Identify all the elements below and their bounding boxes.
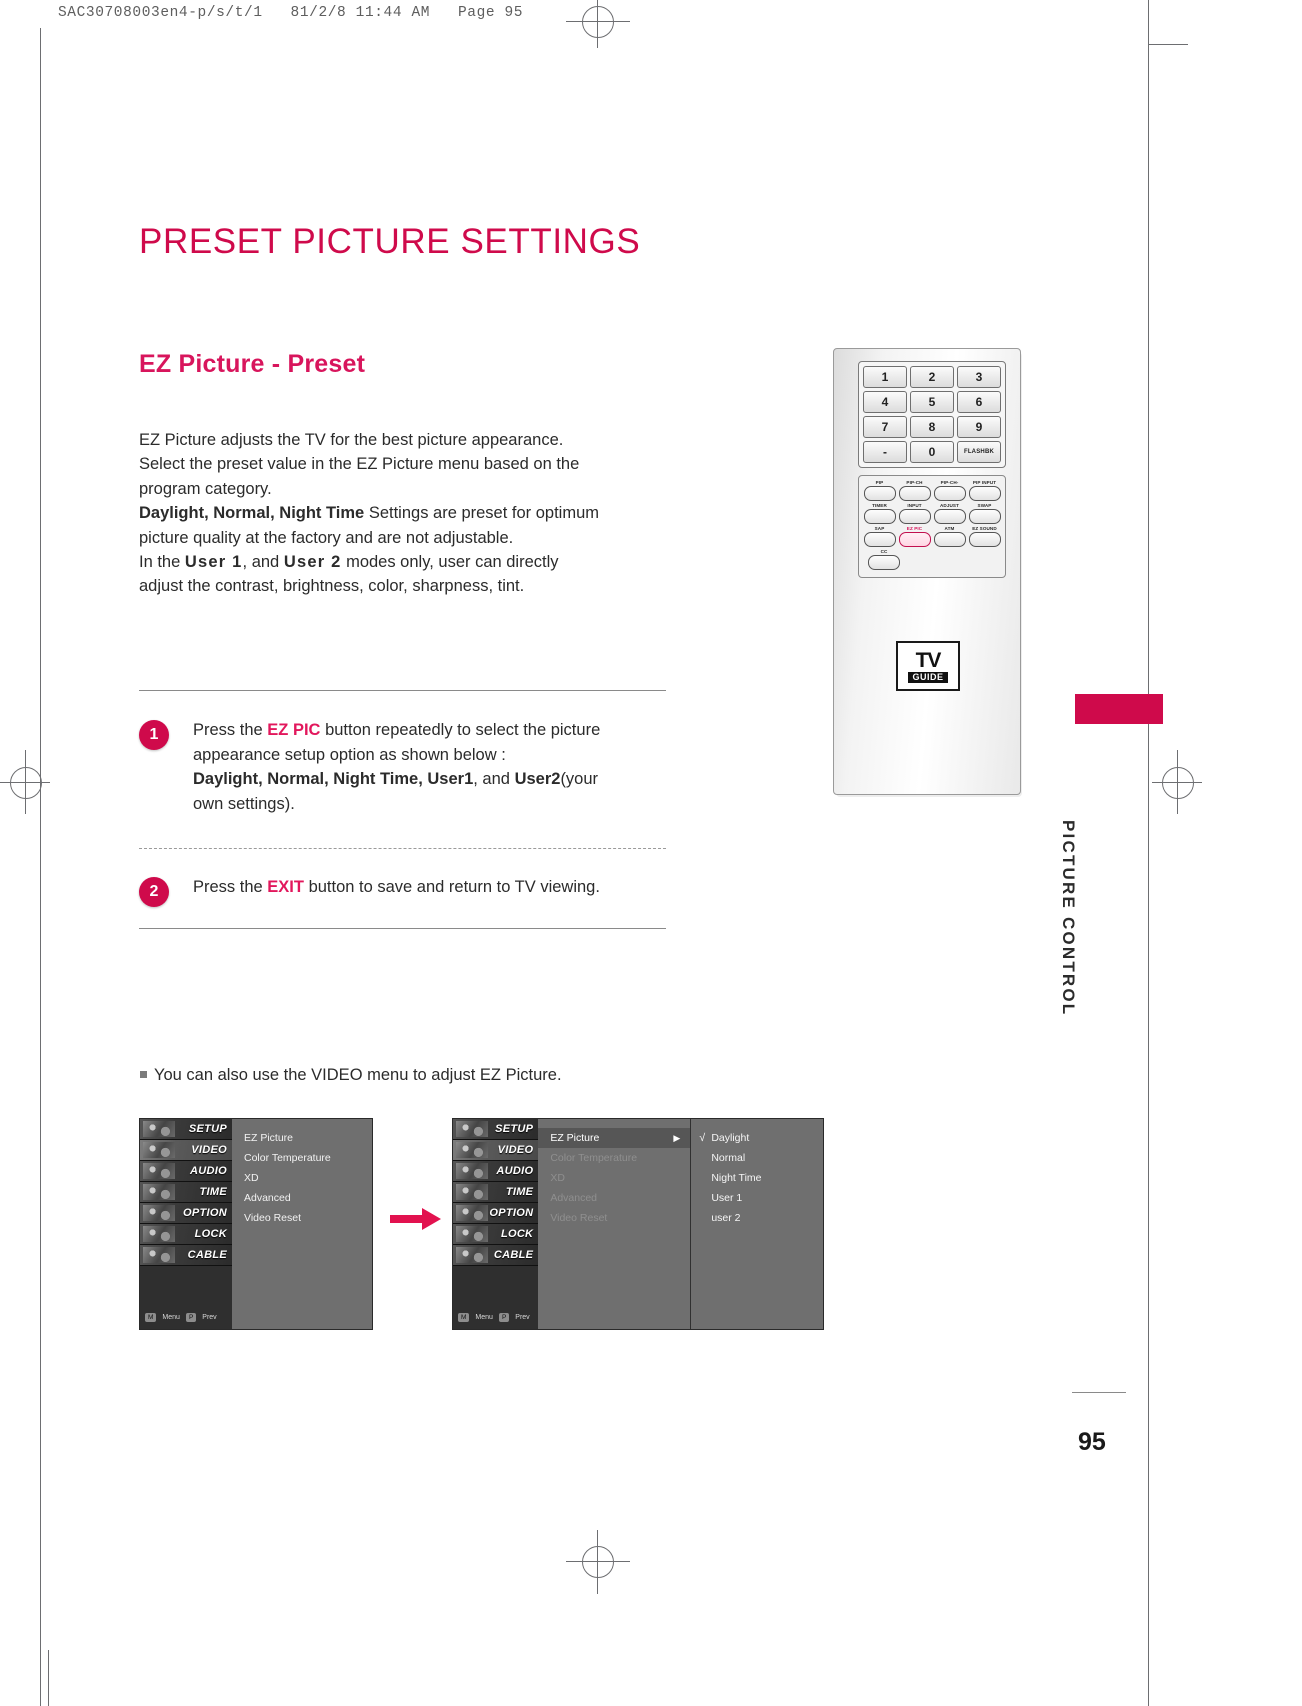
osd-left-item-color-temperature[interactable]: Color Temperature [232, 1148, 372, 1168]
crop-line-right [1148, 0, 1149, 1706]
option-thumb-icon [143, 1205, 175, 1221]
remote-func-row-1: PIP PIP-CH PIP-CH- PIP INPUT [862, 480, 1002, 503]
osd-left-footer: MMenu PPrev [140, 1305, 232, 1329]
osd-right-footer: MMenu PPrev [453, 1305, 538, 1329]
note-line: You can also use the VIDEO menu to adjus… [140, 1066, 562, 1085]
submenu-label-normal: Normal [711, 1152, 745, 1164]
remote-func-row-2: TIMER INPUT ADJUST SWAP [862, 503, 1002, 526]
remote-button-pip-ch-up[interactable]: PIP-CH [899, 480, 931, 503]
submenu-label-user-1: User 1 [711, 1192, 742, 1204]
preset-modes-bold: Daylight, Normal, Night Time [139, 504, 364, 522]
step-1-line4: own settings). [193, 795, 295, 813]
body-line-3: program category. [139, 477, 669, 501]
remote-button-adjust-label: ADJUST [940, 503, 959, 508]
tv-guide-logo-bottom: GUIDE [908, 672, 947, 683]
osd-right-label-time: TIME [506, 1186, 533, 1198]
osd-left-icon-lock[interactable]: LOCK [140, 1224, 232, 1245]
remote-button-atm-pill [934, 532, 966, 547]
osd-right-label-lock: LOCK [501, 1228, 533, 1240]
osd-right-item-color-temperature: Color Temperature [538, 1148, 690, 1168]
remote-button-input-label: INPUT [907, 503, 921, 508]
corner-mark-br-v [1148, 1650, 1149, 1706]
remote-button-pip-ch-down-pill [934, 486, 966, 501]
step-2-number: 2 [139, 877, 169, 907]
print-slug-line: SAC30708003en4-p/s/t/1 81/2/8 11:44 AM P… [58, 5, 523, 21]
osd-right-footer-menu: Menu [475, 1314, 493, 1321]
section-subtitle: EZ Picture - Preset [139, 350, 365, 379]
exit-accent: EXIT [267, 878, 304, 896]
body-line-7: adjust the contrast, brightness, color, … [139, 574, 669, 598]
osd-left-label-video: VIDEO [191, 1144, 227, 1156]
remote-button-ez-pic[interactable]: EZ PIC [899, 526, 931, 549]
osd-right-footer-prev: Prev [515, 1314, 529, 1321]
remote-number-keypad: 1 2 3 4 5 6 7 8 9 - 0 FLASHBK [858, 361, 1006, 468]
remote-button-pip-ch-up-pill [899, 486, 931, 501]
body-line-5: picture quality at the factory and are n… [139, 526, 669, 550]
remote-button-input[interactable]: INPUT [899, 503, 931, 526]
step-1-modes-bold: Daylight, Normal, Night Time, User1 [193, 770, 473, 788]
remote-key-5[interactable]: 5 [910, 391, 954, 413]
step-1: 1 Press the EZ PIC button repeatedly to … [139, 718, 669, 816]
remote-button-ez-sound[interactable]: EZ SOUND [969, 526, 1001, 549]
remote-key-1[interactable]: 1 [863, 366, 907, 388]
user2-bold: User 2 [284, 553, 342, 571]
body-line-6: In the User 1, and User 2 modes only, us… [139, 550, 669, 574]
submenu-item-normal[interactable]: Normal [691, 1148, 823, 1168]
registration-mark-left [0, 750, 50, 814]
submenu-item-daylight[interactable]: √Daylight [691, 1128, 823, 1148]
osd-right-item-advanced: Advanced [538, 1188, 690, 1208]
osd-left-label-option: OPTION [183, 1207, 227, 1219]
setup-thumb-icon [143, 1121, 175, 1137]
step-2-text: Press the EXIT button to save and return… [193, 875, 669, 900]
remote-button-pip-pill [864, 486, 896, 501]
remote-button-sap-label: SAP [875, 526, 885, 531]
tv-guide-logo-top: TV [916, 650, 941, 671]
remote-button-input-pill [899, 509, 931, 524]
body-line-4-rest: Settings are preset for optimum [364, 504, 599, 522]
corner-mark-bl-v [48, 1650, 49, 1706]
submenu-label-user-2: user 2 [711, 1212, 740, 1224]
remote-button-pip-label: PIP [876, 480, 884, 485]
osd-right-item-xd: XD [538, 1168, 690, 1188]
remote-button-pip-ch-up-label: PIP-CH [906, 480, 922, 485]
side-tab-marker [1075, 694, 1163, 724]
step-1-user2-bold: User2 [515, 770, 561, 788]
osd-right-item-ez-picture[interactable]: EZ Picture ▶ [538, 1128, 690, 1148]
remote-button-pip-input-pill [969, 486, 1001, 501]
remote-button-swap-pill [969, 509, 1001, 524]
note-text: You can also use the VIDEO menu to adjus… [154, 1066, 562, 1084]
osd-right-icon-column: SETUP VIDEO AUDIO TIME OPTION LOCK CABLE… [453, 1119, 538, 1329]
remote-button-swap[interactable]: SWAP [969, 503, 1001, 526]
steps-top-rule [139, 690, 666, 691]
osd-left-item-xd[interactable]: XD [232, 1168, 372, 1188]
osd-right-icon-audio[interactable]: AUDIO [453, 1161, 538, 1182]
ez-pic-accent: EZ PIC [267, 721, 320, 739]
prev-key-icon-2: P [499, 1313, 509, 1322]
remote-button-cc-pill [868, 555, 900, 570]
remote-key-6[interactable]: 6 [957, 391, 1001, 413]
osd-left-icon-audio[interactable]: AUDIO [140, 1161, 232, 1182]
osd-left-label-lock: LOCK [195, 1228, 227, 1240]
remote-button-ez-pic-pill [899, 532, 931, 547]
crop-line-top-left [40, 28, 41, 1706]
prev-key-icon: P [186, 1313, 196, 1322]
osd-left-label-audio: AUDIO [190, 1165, 227, 1177]
remote-key-2[interactable]: 2 [910, 366, 954, 388]
osd-left-footer-prev: Prev [202, 1314, 216, 1321]
remote-key-8[interactable]: 8 [910, 416, 954, 438]
remote-button-cc[interactable]: CC [868, 549, 900, 572]
osd-left-icon-setup[interactable]: SETUP [140, 1119, 232, 1140]
osd-left-label-time: TIME [200, 1186, 227, 1198]
osd-screenshot-right: SETUP VIDEO AUDIO TIME OPTION LOCK CABLE… [452, 1118, 824, 1330]
steps-divider-dashed [139, 848, 666, 849]
osd-left-icon-option[interactable]: OPTION [140, 1203, 232, 1224]
osd-right-icon-option[interactable]: OPTION [453, 1203, 538, 1224]
video-thumb-icon-2 [456, 1142, 488, 1158]
remote-key-7[interactable]: 7 [863, 416, 907, 438]
osd-right-label-setup: SETUP [495, 1123, 533, 1135]
submenu-arrow-icon: ▶ [673, 1128, 680, 1148]
remote-button-timer-pill [864, 509, 896, 524]
osd-left-footer-menu: Menu [162, 1314, 180, 1321]
remote-key-9[interactable]: 9 [957, 416, 1001, 438]
osd-left-icon-time[interactable]: TIME [140, 1182, 232, 1203]
registration-mark-bottom [566, 1530, 630, 1594]
body-line-2: Select the preset value in the EZ Pictur… [139, 452, 669, 476]
osd-left-label-cable: CABLE [188, 1249, 227, 1261]
menu-key-icon: M [145, 1313, 156, 1322]
steps-bottom-rule [139, 928, 666, 929]
body-line-6-mid: , and [243, 553, 284, 571]
remote-button-pip-input-label: PIP INPUT [973, 480, 996, 485]
corner-mark-tr-h [1148, 44, 1188, 45]
lock-thumb-icon [143, 1226, 175, 1242]
audio-thumb-icon [143, 1163, 175, 1179]
tv-guide-logo: TV GUIDE [896, 641, 960, 691]
submenu-item-night-time[interactable]: Night Time [691, 1168, 823, 1188]
page-title: PRESET PICTURE SETTINGS [139, 222, 640, 262]
remote-body: 1 2 3 4 5 6 7 8 9 - 0 FLASHBK PIP PIP-CH… [833, 348, 1021, 795]
osd-right-item-ez-picture-label: EZ Picture [550, 1128, 599, 1148]
remote-button-ez-sound-label: EZ SOUND [972, 526, 997, 531]
step-1-line3-rest: (your [560, 770, 598, 788]
remote-key-0[interactable]: 0 [910, 441, 954, 463]
corner-mark-tr-v [1148, 0, 1149, 44]
step-2: 2 Press the EXIT button to save and retu… [139, 875, 669, 900]
body-line-6-rest: modes only, user can directly [341, 553, 558, 571]
remote-button-atm[interactable]: ATM [934, 526, 966, 549]
remote-button-pip-ch-down-label: PIP-CH- [941, 480, 959, 485]
video-thumb-icon [143, 1142, 175, 1158]
osd-left-label-setup: SETUP [189, 1123, 227, 1135]
remote-key-flashbk[interactable]: FLASHBK [957, 441, 1001, 463]
step-1-line2: appearance setup option as shown below : [193, 746, 506, 764]
remote-function-panel: PIP PIP-CH PIP-CH- PIP INPUT TIMER INPUT… [858, 475, 1006, 578]
remote-button-adjust-pill [934, 509, 966, 524]
setup-thumb-icon-2 [456, 1121, 488, 1137]
osd-right-label-audio: AUDIO [496, 1165, 533, 1177]
cable-thumb-icon [143, 1247, 175, 1263]
osd-left-icon-cable[interactable]: CABLE [140, 1245, 232, 1266]
osd-right-icon-lock[interactable]: LOCK [453, 1224, 538, 1245]
osd-right-icon-setup[interactable]: SETUP [453, 1119, 538, 1140]
body-line-1: EZ Picture adjusts the TV for the best p… [139, 428, 669, 452]
osd-left-item-video-reset[interactable]: Video Reset [232, 1208, 372, 1228]
submenu-item-user-1[interactable]: User 1 [691, 1188, 823, 1208]
osd-left-item-list: EZ Picture Color Temperature XD Advanced… [232, 1119, 372, 1329]
osd-right-icon-cable[interactable]: CABLE [453, 1245, 538, 1266]
time-thumb-icon-2 [456, 1184, 488, 1200]
osd-right-icon-time[interactable]: TIME [453, 1182, 538, 1203]
remote-button-sap[interactable]: SAP [864, 526, 896, 549]
cable-thumb-icon-2 [456, 1247, 488, 1263]
menu-key-icon-2: M [458, 1313, 469, 1322]
remote-func-row-4: CC [862, 549, 1002, 572]
osd-left-icon-column: SETUP VIDEO AUDIO TIME OPTION LOCK CABLE… [140, 1119, 232, 1329]
osd-left-item-advanced[interactable]: Advanced [232, 1188, 372, 1208]
remote-control-illustration: 1 2 3 4 5 6 7 8 9 - 0 FLASHBK PIP PIP-CH… [833, 348, 1023, 798]
remote-button-adjust[interactable]: ADJUST [934, 503, 966, 526]
remote-button-atm-label: ATM [945, 526, 955, 531]
check-icon: √ [699, 1128, 711, 1148]
registration-mark-right [1152, 750, 1202, 814]
submenu-item-user-2[interactable]: user 2 [691, 1208, 823, 1228]
step-2-post: button to save and return to TV viewing. [304, 878, 600, 896]
body-line-6-pre: In the [139, 553, 185, 571]
remote-button-cc-label: CC [881, 549, 888, 554]
remote-key-4[interactable]: 4 [863, 391, 907, 413]
osd-right-label-video: VIDEO [498, 1144, 534, 1156]
remote-func-row-3: SAP EZ PIC ATM EZ SOUND [862, 526, 1002, 549]
remote-key-dash[interactable]: - [863, 441, 907, 463]
step-2-pre: Press the [193, 878, 267, 896]
osd-right-label-option: OPTION [489, 1207, 533, 1219]
osd-right-item-list: EZ Picture ▶ Color Temperature XD Advanc… [538, 1119, 690, 1329]
registration-mark-top [566, 0, 630, 48]
body-line-4: Daylight, Normal, Night Time Settings ar… [139, 501, 669, 525]
flow-arrow-icon [390, 1206, 442, 1232]
remote-button-timer[interactable]: TIMER [864, 503, 896, 526]
remote-button-pip-ch-down[interactable]: PIP-CH- [934, 480, 966, 503]
remote-button-ez-pic-label: EZ PIC [907, 526, 922, 531]
option-thumb-icon-2 [456, 1205, 488, 1221]
osd-right-icon-video[interactable]: VIDEO [453, 1140, 538, 1161]
step-1-post: button repeatedly to select the picture [320, 721, 600, 739]
osd-right-label-cable: CABLE [494, 1249, 533, 1261]
osd-left-icon-video[interactable]: VIDEO [140, 1140, 232, 1161]
remote-button-ez-sound-pill [969, 532, 1001, 547]
osd-screenshot-left: SETUP VIDEO AUDIO TIME OPTION LOCK CABLE… [139, 1118, 373, 1330]
step-1-pre: Press the [193, 721, 267, 739]
step-1-line3-mid: , and [473, 770, 514, 788]
osd-right-submenu: √Daylight Normal Night Time User 1 user … [690, 1119, 823, 1329]
step-1-number: 1 [139, 720, 169, 750]
side-tab-label: PICTURE CONTROL [1058, 820, 1078, 1016]
osd-right-item-video-reset: Video Reset [538, 1208, 690, 1228]
remote-button-pip-input[interactable]: PIP INPUT [969, 480, 1001, 503]
note-bullet-icon [140, 1071, 147, 1078]
remote-button-pip[interactable]: PIP [864, 480, 896, 503]
submenu-label-daylight: Daylight [711, 1132, 749, 1144]
page-number-rule [1072, 1392, 1126, 1393]
lock-thumb-icon-2 [456, 1226, 488, 1242]
time-thumb-icon [143, 1184, 175, 1200]
remote-button-sap-pill [864, 532, 896, 547]
submenu-label-night-time: Night Time [711, 1172, 761, 1184]
user1-bold: User 1 [185, 553, 243, 571]
page-number: 95 [1078, 1428, 1106, 1457]
step-1-text: Press the EZ PIC button repeatedly to se… [193, 718, 669, 816]
osd-left-item-ez-picture[interactable]: EZ Picture [232, 1128, 372, 1148]
remote-button-swap-label: SWAP [978, 503, 992, 508]
remote-button-timer-label: TIMER [872, 503, 887, 508]
intro-paragraphs: EZ Picture adjusts the TV for the best p… [139, 428, 669, 599]
audio-thumb-icon-2 [456, 1163, 488, 1179]
remote-key-3[interactable]: 3 [957, 366, 1001, 388]
